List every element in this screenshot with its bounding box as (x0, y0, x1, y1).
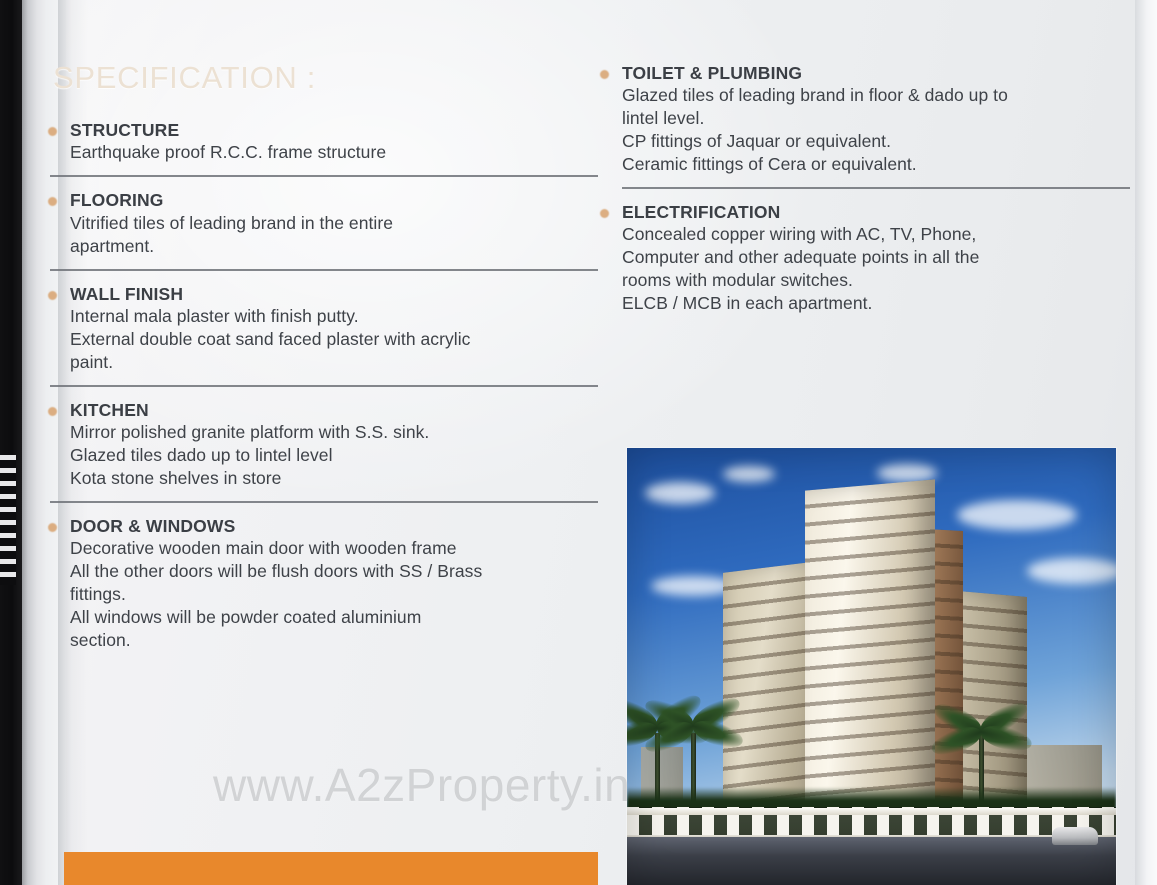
spec-heading: ELECTRIFICATION (622, 201, 1135, 223)
spec-body: Concealed copper wiring with AC, TV, Pho… (622, 223, 1135, 315)
divider (50, 269, 598, 271)
brochure-page: SPECIFICATION : STRUCTURE Earthquake pro… (0, 0, 1157, 885)
spec-line: Decorative wooden main door with wooden … (70, 537, 600, 560)
spec-block-flooring: FLOORING Vitrified tiles of leading bran… (48, 189, 600, 257)
spec-line: All windows will be powder coated alumin… (70, 606, 600, 629)
spec-line: Ceramic fittings of Cera or equivalent. (622, 153, 1135, 176)
spec-block-toilet-plumbing: TOILET & PLUMBING Glazed tiles of leadin… (600, 62, 1135, 176)
bullet-icon (48, 291, 57, 300)
spec-line: Glazed tiles dado up to lintel level (70, 444, 600, 467)
spec-heading: STRUCTURE (70, 119, 600, 141)
spec-line: paint. (70, 351, 600, 374)
page-content: SPECIFICATION : STRUCTURE Earthquake pro… (0, 0, 1157, 885)
spec-line: External double coat sand faced plaster … (70, 328, 600, 351)
spec-line: ELCB / MCB in each apartment. (622, 292, 1135, 315)
divider (50, 385, 598, 387)
spec-line: lintel level. (622, 107, 1135, 130)
spec-line: Mirror polished granite platform with S.… (70, 421, 600, 444)
spec-line: Vitrified tiles of leading brand in the … (70, 212, 600, 235)
spec-line: Internal mala plaster with finish putty. (70, 305, 600, 328)
spec-body: Internal mala plaster with finish putty.… (70, 305, 600, 374)
building-photo (627, 448, 1116, 885)
spec-heading: DOOR & WINDOWS (70, 515, 600, 537)
spec-body: Mirror polished granite platform with S.… (70, 421, 600, 490)
bullet-icon (48, 407, 57, 416)
spec-line: Kota stone shelves in store (70, 467, 600, 490)
spec-block-structure: STRUCTURE Earthquake proof R.C.C. frame … (48, 119, 600, 164)
spec-line: Glazed tiles of leading brand in floor &… (622, 84, 1135, 107)
spec-body: Earthquake proof R.C.C. frame structure (70, 141, 600, 164)
spec-block-electrification: ELECTRIFICATION Concealed copper wiring … (600, 201, 1135, 315)
bullet-icon (600, 209, 609, 218)
watermark: www.A2zProperty.in (213, 758, 630, 812)
spec-heading: TOILET & PLUMBING (622, 62, 1135, 84)
spec-body: Glazed tiles of leading brand in floor &… (622, 84, 1135, 176)
spec-heading: KITCHEN (70, 399, 600, 421)
spec-line: rooms with modular switches. (622, 269, 1135, 292)
accent-band (64, 852, 598, 885)
spec-line: fittings. (70, 583, 600, 606)
floor-bands (805, 479, 935, 830)
spec-line: All the other doors will be flush doors … (70, 560, 600, 583)
road (627, 837, 1116, 885)
spec-line: Computer and other adequate points in al… (622, 246, 1135, 269)
spec-body: Decorative wooden main door with wooden … (70, 537, 600, 652)
tower-central (805, 479, 935, 830)
bullet-icon (48, 197, 57, 206)
cloud (645, 482, 715, 504)
right-column: TOILET & PLUMBING Glazed tiles of leadin… (600, 62, 1135, 315)
spec-heading: WALL FINISH (70, 283, 600, 305)
spec-line: section. (70, 629, 600, 652)
left-column: SPECIFICATION : STRUCTURE Earthquake pro… (48, 62, 600, 652)
spec-line: apartment. (70, 235, 600, 258)
cloud (723, 466, 775, 482)
spec-body: Vitrified tiles of leading brand in the … (70, 212, 600, 258)
cloud (1027, 558, 1116, 584)
fence-cap-rail (627, 808, 1116, 815)
spec-block-door-windows: DOOR & WINDOWS Decorative wooden main do… (48, 515, 600, 652)
spec-line: Earthquake proof R.C.C. frame structure (70, 141, 600, 164)
spec-line: Concealed copper wiring with AC, TV, Pho… (622, 223, 1135, 246)
cloud (957, 500, 1077, 530)
page-title: SPECIFICATION : (53, 62, 600, 93)
spec-block-kitchen: KITCHEN Mirror polished granite platform… (48, 399, 600, 490)
bullet-icon (600, 70, 609, 79)
divider (622, 187, 1130, 189)
spec-heading: FLOORING (70, 189, 600, 211)
divider (50, 501, 598, 503)
bullet-icon (48, 523, 57, 532)
spec-line: CP fittings of Jaquar or equivalent. (622, 130, 1135, 153)
spec-block-wall-finish: WALL FINISH Internal mala plaster with f… (48, 283, 600, 374)
divider (50, 175, 598, 177)
parked-car (1052, 827, 1098, 845)
bullet-icon (48, 127, 57, 136)
